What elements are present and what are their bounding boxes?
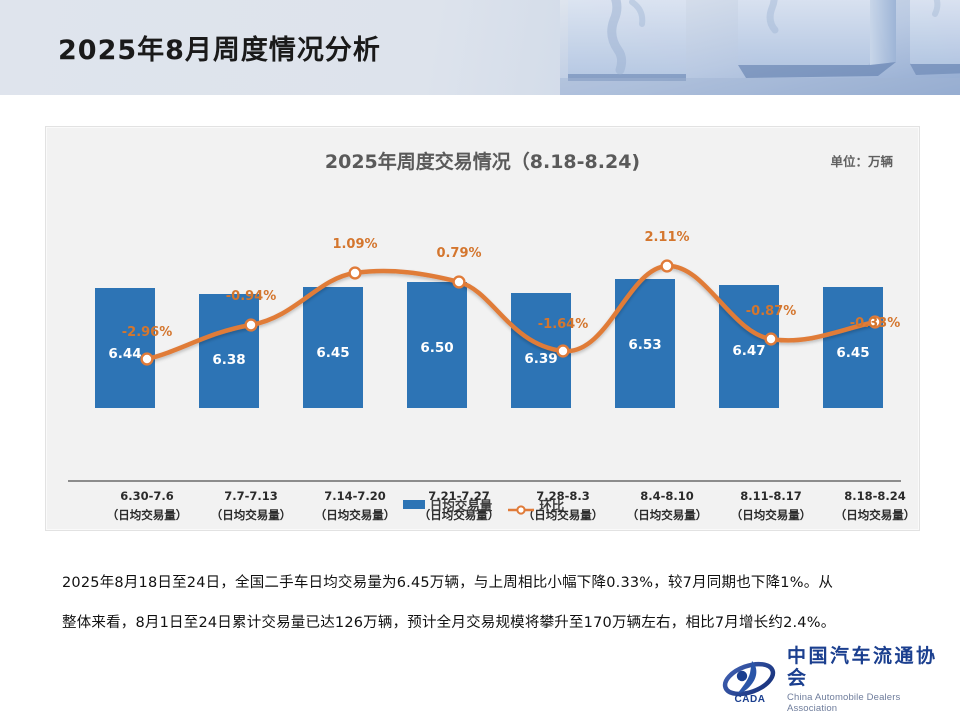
legend-label-bar: 日均交易量	[430, 495, 493, 514]
logo-name-cn: 中国汽车流通协会	[787, 646, 944, 690]
pct-label-1: -0.94%	[211, 289, 291, 304]
chart-line-layer: -2.96% -0.94% 1.09% 0.79% -1.64% 2.11% -…	[68, 199, 899, 465]
svg-text:CADA: CADA	[735, 694, 766, 705]
chart-panel: 2025年周度交易情况（8.18-8.24) 单位：万辆 6.44 6.38 6…	[45, 126, 920, 531]
analysis-text-line-2: 整体来看，8月1日至24日累计交易量已达126万辆，预计全月交易规模将攀升至17…	[62, 603, 907, 643]
logo-name-en: China Automobile Dealers Association	[787, 692, 944, 714]
pct-label-4: -1.64%	[523, 317, 603, 332]
x-axis-line	[68, 480, 901, 482]
pct-label-7: -0.33%	[835, 316, 915, 331]
logo-text-block: 中国汽车流通协会 China Automobile Dealers Associ…	[787, 646, 944, 714]
legend-label-line: 环比	[539, 495, 564, 514]
chart-legend: 日均交易量 环比	[46, 495, 921, 514]
pct-label-0: -2.96%	[107, 325, 187, 340]
pct-label-3: 0.79%	[419, 246, 499, 261]
pct-label-6: -0.87%	[731, 304, 811, 319]
cada-emblem-icon: CADA	[722, 655, 780, 705]
page-header: 2025年8月周度情况分析	[0, 0, 960, 95]
pct-label-2: 1.09%	[315, 237, 395, 252]
pct-label-5: 2.11%	[627, 230, 707, 245]
legend-bar-swatch-icon	[403, 500, 425, 509]
legend-line-swatch-icon	[508, 500, 534, 510]
page-title: 2025年8月周度情况分析	[58, 28, 381, 67]
legend-item-bar[interactable]: 日均交易量	[403, 495, 493, 514]
analysis-text: 2025年8月18日至24日，全国二手车日均交易量为6.45万辆，与上周相比小幅…	[62, 563, 907, 643]
organization-logo: CADA 中国汽车流通协会 China Automobile Dealers A…	[722, 652, 944, 708]
header-decoration-image	[560, 0, 960, 95]
legend-item-line[interactable]: 环比	[508, 495, 564, 514]
analysis-text-line-1: 2025年8月18日至24日，全国二手车日均交易量为6.45万辆，与上周相比小幅…	[62, 563, 907, 603]
